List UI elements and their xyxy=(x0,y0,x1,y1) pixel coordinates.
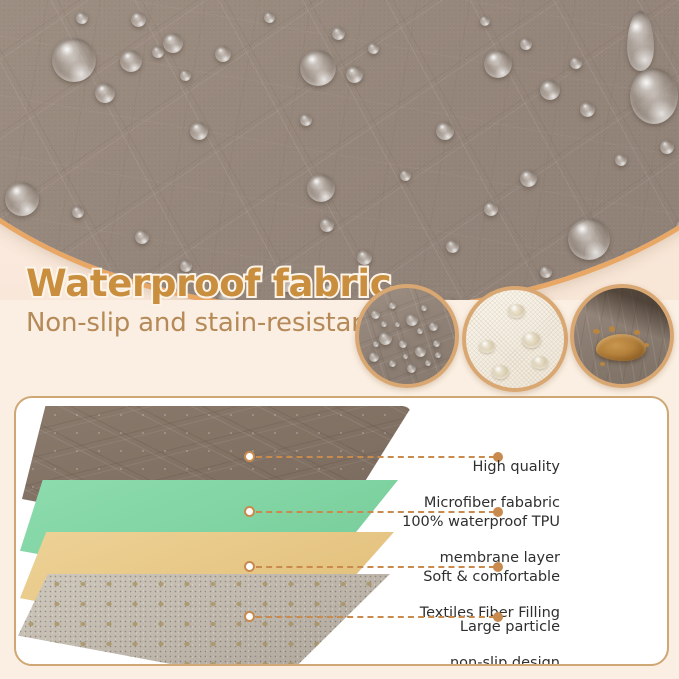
callout-1-line-1: High quality xyxy=(472,459,560,475)
water-droplet xyxy=(446,240,459,253)
callout-text-4: Large particle non-slip design xyxy=(350,600,560,666)
connector-ring-dot-2 xyxy=(244,506,255,517)
water-droplet xyxy=(570,57,582,69)
water-droplet xyxy=(76,12,88,24)
water-droplet xyxy=(389,360,396,367)
water-droplet xyxy=(417,328,423,334)
water-droplet xyxy=(152,46,164,58)
water-droplet xyxy=(381,321,387,327)
water-bead xyxy=(508,304,525,318)
water-droplet xyxy=(346,66,363,83)
water-bead xyxy=(492,365,509,379)
layers-diagram-panel: High quality Microfiber fababric 100% wa… xyxy=(14,396,669,666)
water-droplet xyxy=(520,38,532,50)
coffee-splash-droplet xyxy=(593,329,600,334)
layer-non-slip-base xyxy=(18,574,390,666)
detail-circle-cream-fabric xyxy=(462,286,568,392)
water-droplet xyxy=(131,12,146,27)
water-droplet xyxy=(5,182,39,216)
water-droplet xyxy=(400,170,411,181)
water-droplet xyxy=(480,16,490,26)
water-droplet xyxy=(320,218,334,232)
water-droplet xyxy=(484,202,498,216)
water-bead xyxy=(532,356,548,369)
water-droplet xyxy=(403,354,408,359)
water-droplet xyxy=(580,102,595,117)
water-droplet xyxy=(373,341,379,347)
coffee-splash-droplet xyxy=(644,343,649,347)
callout-2-line-1: 100% waterproof TPU xyxy=(402,514,560,530)
water-droplet xyxy=(568,218,610,260)
water-droplet xyxy=(433,340,440,347)
water-droplet xyxy=(660,140,674,154)
water-droplet xyxy=(95,83,115,103)
water-droplet xyxy=(389,302,396,309)
page-subtitle: Non-slip and stain-resistant xyxy=(26,308,378,338)
product-infographic: Waterproof fabric Non-slip and stain-res… xyxy=(0,0,679,679)
water-droplet xyxy=(371,310,380,319)
water-droplet xyxy=(163,33,183,53)
page-title: Waterproof fabric xyxy=(26,262,391,305)
water-droplet xyxy=(369,352,379,362)
water-droplet xyxy=(484,50,512,78)
detail-circle-coffee-spill xyxy=(570,284,674,388)
coffee-splash-droplet xyxy=(600,362,605,366)
water-droplet xyxy=(429,322,438,331)
non-slip-particle-nubs xyxy=(18,574,390,666)
water-droplet xyxy=(436,122,454,140)
water-bead xyxy=(479,340,495,353)
water-droplet xyxy=(520,170,537,187)
water-droplet xyxy=(300,50,336,86)
water-droplet xyxy=(135,230,149,244)
water-droplet xyxy=(307,174,335,202)
water-droplet xyxy=(407,364,416,373)
callout-4-line-1: Large particle xyxy=(460,619,560,635)
connector-ring-dot-1 xyxy=(244,451,255,462)
water-droplet xyxy=(421,305,427,311)
water-droplet xyxy=(379,332,392,345)
water-droplet xyxy=(368,43,379,54)
water-droplet xyxy=(180,70,191,81)
water-droplet xyxy=(425,360,431,366)
water-droplet xyxy=(215,46,231,62)
connector-ring-dot-3 xyxy=(244,561,255,572)
water-droplet xyxy=(190,122,208,140)
water-droplet xyxy=(415,346,426,357)
water-droplet xyxy=(395,322,400,327)
coffee-spill-stain xyxy=(596,334,646,361)
water-droplet xyxy=(72,206,84,218)
water-droplet xyxy=(332,27,345,40)
waterproof-quilted-fabric-image xyxy=(0,0,679,300)
water-droplet xyxy=(52,38,96,82)
water-droplet xyxy=(615,154,627,166)
coffee-splash-droplet xyxy=(609,326,615,332)
water-bead xyxy=(522,332,541,348)
callout-3-line-1: Soft & comfortable xyxy=(423,569,560,585)
water-droplet xyxy=(435,352,441,358)
connector-ring-dot-4 xyxy=(244,611,255,622)
water-droplet xyxy=(120,50,142,72)
coffee-splash-droplet xyxy=(634,330,640,335)
detail-circle-water-beading xyxy=(355,284,459,388)
callout-4-line-2: non-slip design xyxy=(450,655,560,666)
water-droplet xyxy=(399,340,407,348)
water-droplet xyxy=(406,314,418,326)
hero-section xyxy=(0,0,679,300)
water-droplet xyxy=(630,68,678,124)
water-droplet xyxy=(264,12,275,23)
water-droplet xyxy=(300,114,312,126)
water-droplet xyxy=(540,80,560,100)
